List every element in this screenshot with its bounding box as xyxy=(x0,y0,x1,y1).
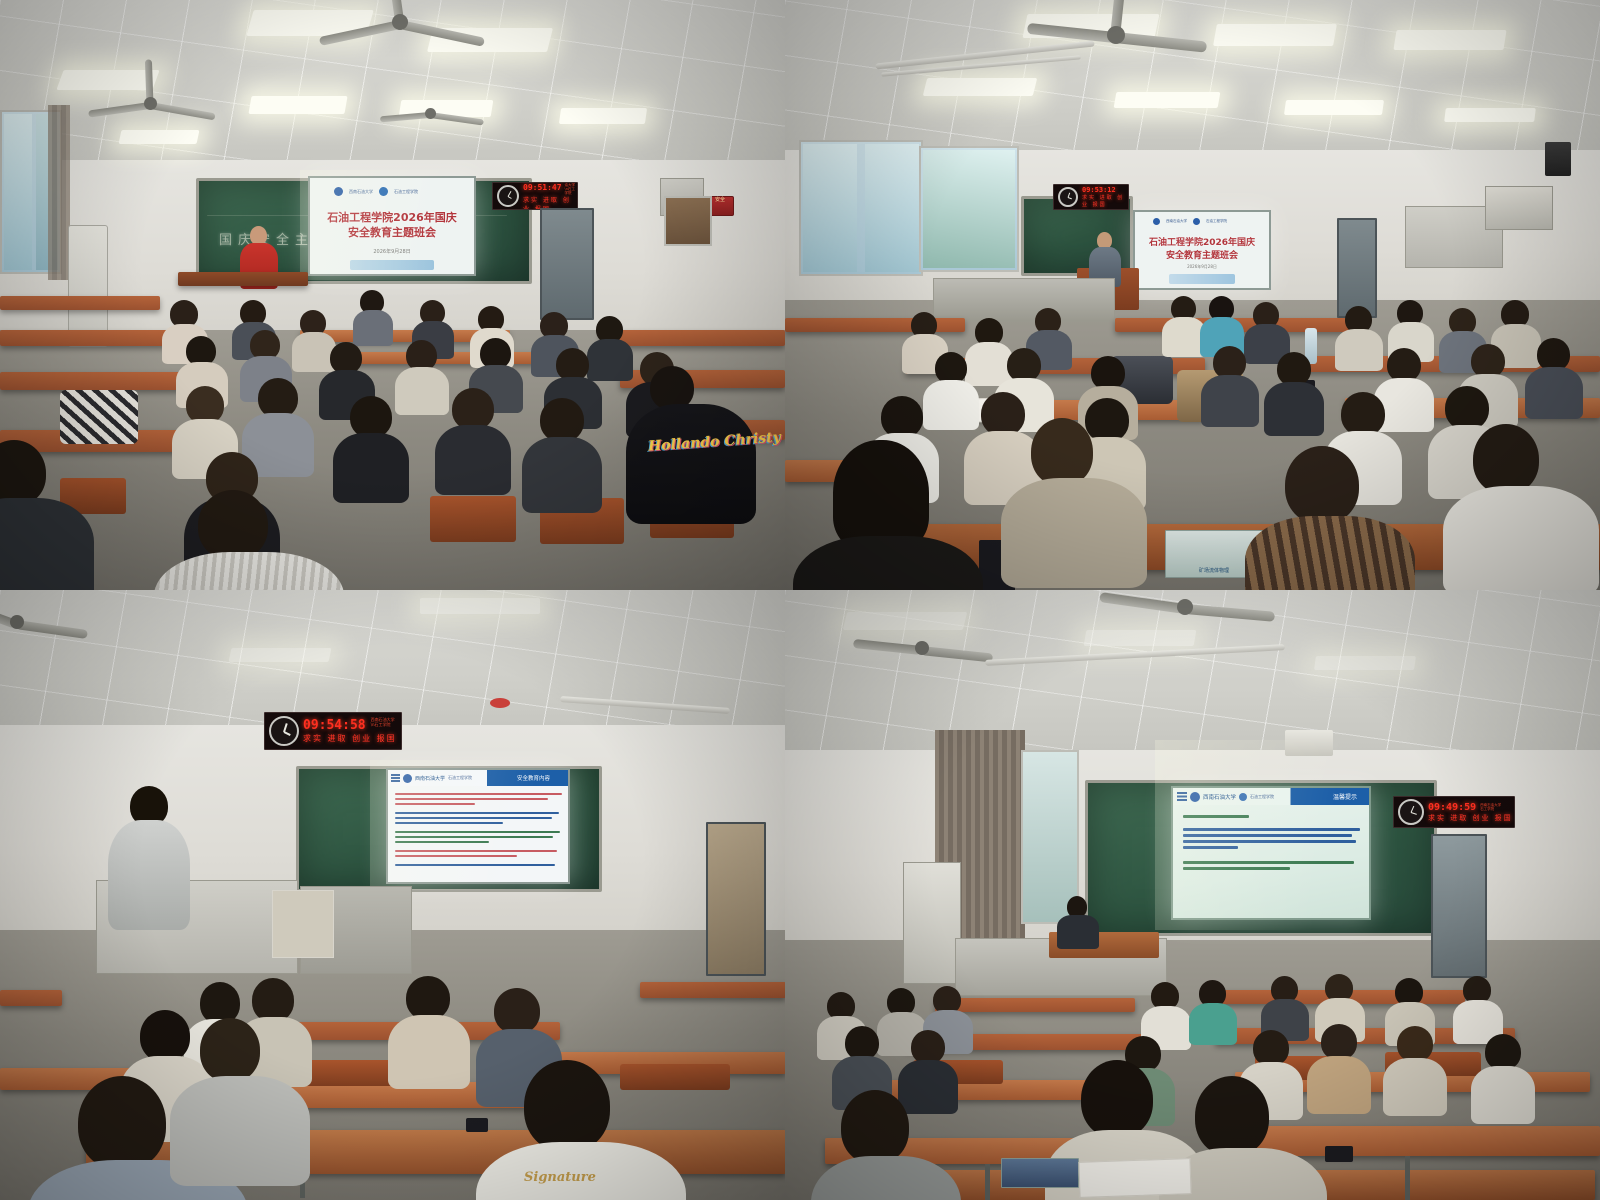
org-name: 西南石油大学 xyxy=(415,775,445,782)
student-head xyxy=(1081,1060,1153,1138)
student-desk xyxy=(0,990,62,1006)
chair xyxy=(430,496,516,542)
clock-icon xyxy=(1058,187,1078,207)
student-head xyxy=(1473,424,1539,494)
ceiling-projector xyxy=(1285,730,1333,756)
led-motto: 求实 进取 创业 报国 xyxy=(303,733,398,744)
student-desk xyxy=(0,296,160,310)
wall-display: 西南石油大学 石油工程学院 安全教育内容 xyxy=(386,768,570,884)
student-torso xyxy=(1443,486,1599,590)
ceiling-light xyxy=(1213,24,1337,46)
smartphone[interactable] xyxy=(1325,1146,1353,1162)
ceiling-light xyxy=(843,612,967,630)
slide-header-tab[interactable]: 温馨提示 xyxy=(1333,792,1357,801)
student-head xyxy=(1195,1076,1269,1156)
ceiling-light xyxy=(923,78,1037,96)
led-time: 09:51:47 xyxy=(523,183,562,192)
led-time: 09:53:12 xyxy=(1082,186,1128,194)
org-sub: 石油工程学院 xyxy=(448,775,472,781)
college-logo-icon xyxy=(379,187,388,196)
ceiling-light xyxy=(1114,92,1221,108)
ceiling-light xyxy=(1314,656,1416,670)
student-desk xyxy=(935,998,1135,1012)
org-name: 西南石油大学 xyxy=(1203,793,1236,801)
wall-cabinet xyxy=(933,278,1115,322)
textbook xyxy=(1001,1158,1079,1188)
university-logo-icon xyxy=(403,774,412,783)
student-head xyxy=(200,1018,260,1082)
led-side-text: 西南石油大学\n石工学院 xyxy=(565,182,577,195)
classroom-window xyxy=(919,146,1019,272)
ceiling-light xyxy=(559,108,647,124)
classroom-door[interactable] xyxy=(1337,218,1377,318)
photo-collage: 国庆安全主题 西南石油大学 石油工程学院 石油工程学院2026年国庆 安全教育主… xyxy=(0,0,1600,1200)
slide-logos: 西南石油大学 石油工程学院 xyxy=(1153,218,1227,225)
projection-screen: 西南石油大学 石油工程学院 石油工程学院2026年国庆 安全教育主题班会 202… xyxy=(308,176,476,276)
student-torso xyxy=(626,404,756,524)
back-window xyxy=(664,196,712,246)
ceiling-light xyxy=(248,96,347,114)
window-curtain xyxy=(48,105,70,280)
ceiling-light xyxy=(1444,108,1536,122)
university-logo-icon xyxy=(1190,792,1200,802)
standing-student-body xyxy=(108,820,190,930)
led-motto: 求实 进取 创业 报国 xyxy=(1082,194,1128,208)
college-logo-icon xyxy=(1239,793,1247,801)
slide-title-line2: 安全教育主题班会 xyxy=(310,224,474,240)
classroom-door[interactable] xyxy=(706,822,766,976)
slide-logos: 西南石油大学 石油工程学院 xyxy=(334,187,418,196)
slide-date: 2026年9月28日 xyxy=(310,248,474,255)
led-display: 09:54:58 西南石油大学\n石工学院 求实 进取 创业 报国 xyxy=(264,712,402,750)
student-torso xyxy=(1245,516,1415,590)
ceiling-light xyxy=(1084,630,1197,646)
led-side-text: 西南石油大学石工学院 xyxy=(1480,803,1501,811)
slide-body xyxy=(1173,812,1369,916)
student-desk xyxy=(785,318,965,332)
slide-title-line1: 石油工程学院2026年国庆 xyxy=(1135,235,1269,248)
university-logo-icon xyxy=(334,187,343,196)
wall-cabinet xyxy=(903,862,961,984)
student-head xyxy=(1031,418,1093,486)
wall-speaker xyxy=(1545,142,1571,176)
tshirt-graphic-text: Signature xyxy=(524,1170,596,1185)
student-head xyxy=(198,490,268,560)
student-head xyxy=(524,1060,610,1152)
panel-top-left: 国庆安全主题 西南石油大学 石油工程学院 石油工程学院2026年国庆 安全教育主… xyxy=(0,0,785,590)
student-head xyxy=(78,1076,166,1170)
university-name: 西南石油大学 xyxy=(349,189,373,195)
student-head xyxy=(833,440,929,550)
student-torso xyxy=(1001,478,1147,588)
panel-bottom-left: 09:54:58 西南石油大学\n石工学院 求实 进取 创业 报国 西南石油大学… xyxy=(0,590,785,1200)
menu-icon[interactable] xyxy=(1177,792,1187,801)
student-desk xyxy=(0,330,170,346)
slide-header: 西南石油大学 石油工程学院 安全教育内容 xyxy=(388,770,568,786)
student-desk xyxy=(640,982,785,998)
teacher-desk xyxy=(178,272,308,286)
menu-icon[interactable] xyxy=(391,774,400,782)
student-head xyxy=(841,1090,909,1164)
panel-top-right: 安全第一 预防为主 西南石油大学 石油工程学院 石油工程学院2026年国庆 安全… xyxy=(785,0,1600,590)
led-side-text: 西南石油大学\n石工学院 xyxy=(371,718,398,727)
paper-sheet xyxy=(1078,1158,1191,1198)
led-time: 09:54:58 xyxy=(303,718,366,733)
college-logo-icon xyxy=(1193,218,1200,225)
projected-slide: 西南石油大学 石油工程学院 温馨提示 xyxy=(1171,786,1371,920)
clock-icon xyxy=(1398,799,1424,825)
university-logo-icon xyxy=(1153,218,1160,225)
led-time: 09:49:59 xyxy=(1428,802,1476,813)
college-name: 石油工程学院 xyxy=(1206,219,1227,224)
slide-header-tab[interactable]: 安全教育内容 xyxy=(517,774,550,782)
smoke-detector-icon xyxy=(490,698,510,708)
slide-header: 西南石油大学 石油工程学院 温馨提示 xyxy=(1173,788,1369,805)
classroom-door[interactable] xyxy=(540,208,594,320)
chair xyxy=(620,1064,730,1090)
ceiling-light xyxy=(119,130,200,144)
clock-icon xyxy=(497,185,519,207)
air-conditioner xyxy=(68,225,108,347)
led-display: 09:53:12 求实 进取 创业 报国 xyxy=(1053,184,1129,210)
ceiling-light xyxy=(56,70,159,90)
wall-cabinet xyxy=(1485,186,1553,230)
wall-display: 西南石油大学 石油工程学院 石油工程学院2026年国庆 安全教育主题班会 202… xyxy=(1133,210,1271,290)
ceiling-light xyxy=(420,598,540,614)
ceiling-light xyxy=(1284,100,1384,115)
smartphone[interactable] xyxy=(466,1118,488,1132)
led-display: 09:49:59 西南石油大学石工学院 求实 进取 创业 报国 xyxy=(1393,796,1515,828)
org-sub: 石油工程学院 xyxy=(1250,794,1274,800)
teacher-body xyxy=(1057,915,1099,949)
led-display: 09:51:47 西南石油大学\n石工学院 求实 进取 创业 报国 xyxy=(492,182,578,210)
slide-body xyxy=(388,790,568,880)
led-motto: 求实 进取 创业 报国 xyxy=(1428,813,1514,823)
slide-title-line2: 安全教育主题班会 xyxy=(1135,248,1269,261)
wall-poster xyxy=(272,890,334,958)
classroom-door[interactable] xyxy=(1431,834,1487,978)
panel-bottom-right: 西南石油大学 石油工程学院 温馨提示 xyxy=(785,590,1600,1200)
college-name: 石油工程学院 xyxy=(394,189,418,195)
university-name: 西南石油大学 xyxy=(1166,219,1187,224)
clock-icon xyxy=(269,716,299,746)
student-head xyxy=(1285,446,1359,524)
classroom-window xyxy=(799,140,923,276)
student-desk xyxy=(0,372,200,390)
slide-date: 2026年9月28日 xyxy=(1135,264,1269,270)
student-torso xyxy=(170,1076,310,1186)
ceiling-light xyxy=(1393,30,1506,50)
backpack xyxy=(60,390,138,444)
ceiling-light xyxy=(229,648,332,662)
slide-title-line1: 石油工程学院2026年国庆 xyxy=(310,209,474,225)
